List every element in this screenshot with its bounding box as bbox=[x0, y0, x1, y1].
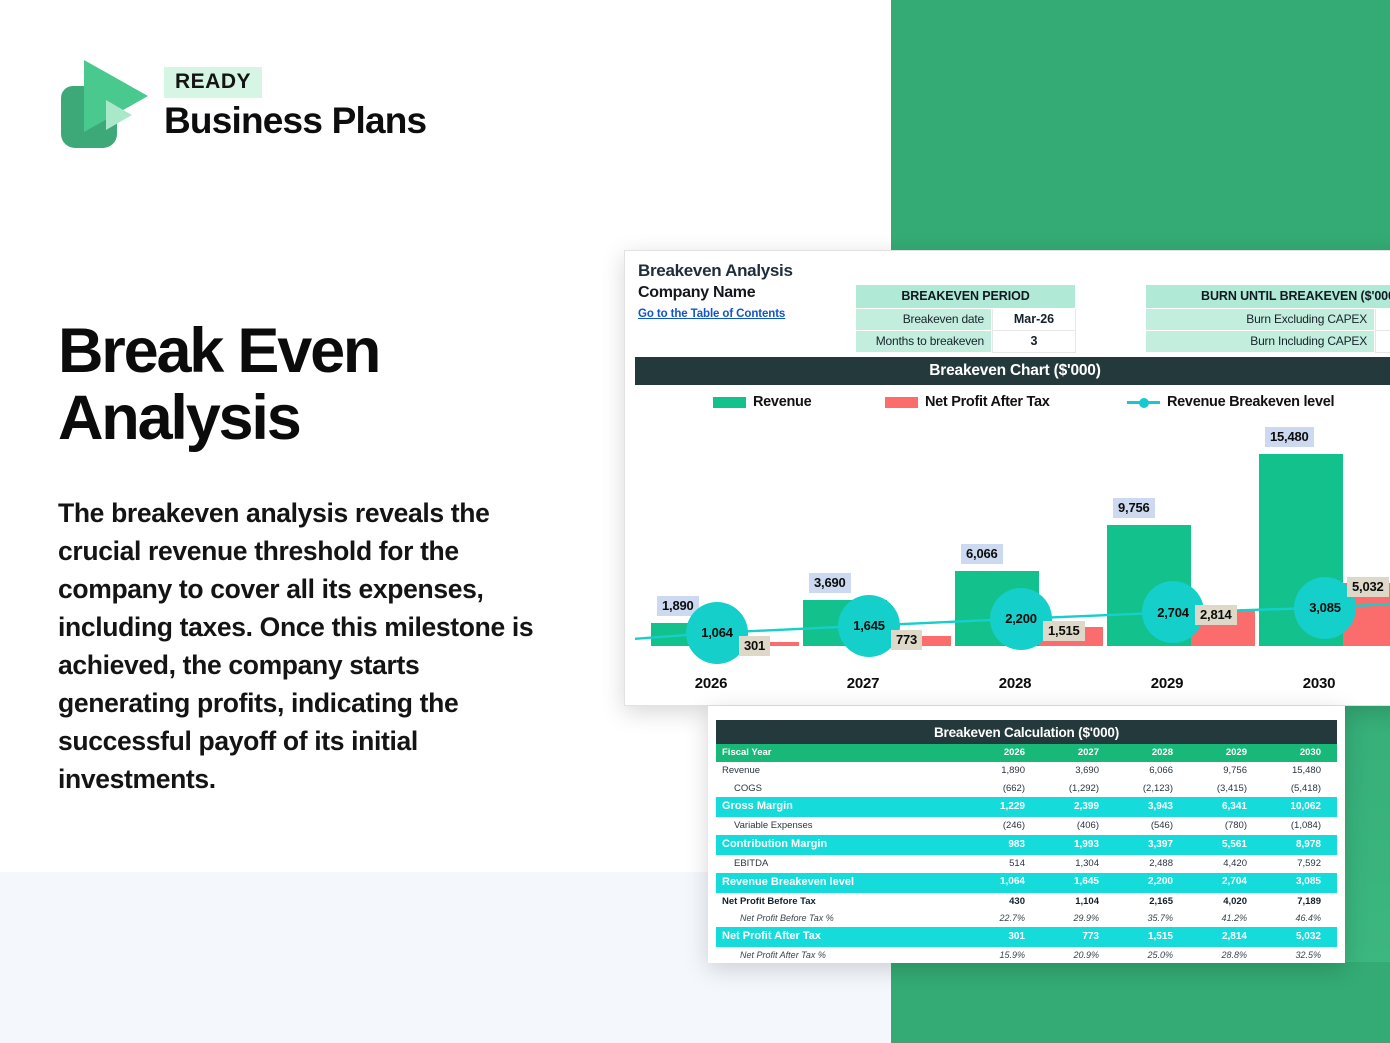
cell-2030: (5,418) bbox=[1263, 780, 1337, 798]
row-label: Net Profit After Tax bbox=[716, 927, 967, 947]
chart-plot-area: 1,8903011,06420263,6907731,64520276,0661… bbox=[635, 423, 1390, 698]
background-green-panel-top bbox=[891, 0, 1390, 256]
cell-2027: 1,645 bbox=[1041, 873, 1115, 893]
background-green-panel-bottom bbox=[891, 962, 1390, 1043]
cell-2026: 1,064 bbox=[967, 873, 1041, 893]
table-row: Net Profit After Tax3017731,5152,8145,03… bbox=[716, 927, 1337, 947]
table-header-row: Fiscal Year20262027202820292030 bbox=[716, 744, 1337, 762]
row-label: Net Profit Before Tax % bbox=[716, 910, 967, 927]
data-label-revenue: 3,690 bbox=[809, 573, 851, 593]
cell-2028: 25.0% bbox=[1115, 947, 1189, 963]
data-label-net-profit-after-tax: 5,032 bbox=[1347, 577, 1389, 597]
table-row: Revenue1,8903,6906,0669,75615,480 bbox=[716, 762, 1337, 780]
column-header-2027: 2027 bbox=[1041, 744, 1115, 762]
kpi-row: Breakeven date Mar-26 bbox=[855, 309, 1076, 331]
breakeven-calculation-card: Breakeven Calculation ($'000) Fiscal Yea… bbox=[708, 706, 1345, 963]
sheet-company-name: Company Name bbox=[638, 283, 847, 304]
row-label: Revenue bbox=[716, 762, 967, 780]
cell-2030: 8,978 bbox=[1263, 835, 1337, 855]
cell-2027: 773 bbox=[1041, 927, 1115, 947]
cell-2029: 2,704 bbox=[1189, 873, 1263, 893]
burn-until-breakeven-panel: BURN UNTIL BREAKEVEN ($'000) Burn Exclud… bbox=[1145, 284, 1390, 353]
row-label: Revenue Breakeven level bbox=[716, 873, 967, 893]
table-row: Contribution Margin9831,9933,3975,5618,9… bbox=[716, 835, 1337, 855]
table-row: Variable Expenses(246)(406)(546)(780)(1,… bbox=[716, 817, 1337, 835]
table-row: Revenue Breakeven level1,0641,6452,2002,… bbox=[716, 873, 1337, 893]
table-row: Gross Margin1,2292,3993,9436,34110,062 bbox=[716, 797, 1337, 817]
cell-2027: (406) bbox=[1041, 817, 1115, 835]
chart-title: Breakeven Chart ($'000) bbox=[635, 357, 1390, 385]
legend-swatch-icon bbox=[885, 397, 918, 408]
cell-2026: 22.7% bbox=[967, 910, 1041, 927]
data-label-net-profit-after-tax: 773 bbox=[891, 630, 922, 650]
cell-2028: (546) bbox=[1115, 817, 1189, 835]
column-header-2026: 2026 bbox=[967, 744, 1041, 762]
legend-item-revenue[interactable]: Revenue bbox=[713, 394, 811, 410]
column-header-2030: 2030 bbox=[1263, 744, 1337, 762]
cell-2028: 2,488 bbox=[1115, 855, 1189, 873]
breakeven-calculation-table: Fiscal Year20262027202820292030 Revenue1… bbox=[716, 744, 1337, 963]
breakeven-period-title: BREAKEVEN PERIOD bbox=[855, 284, 1076, 309]
data-label-revenue: 9,756 bbox=[1113, 498, 1155, 518]
cell-2027: (1,292) bbox=[1041, 780, 1115, 798]
brand-name: Business Plans bbox=[164, 100, 426, 142]
cell-2029: (780) bbox=[1189, 817, 1263, 835]
slide-canvas: READY Business Plans Break Even Analysis… bbox=[0, 0, 1390, 1043]
cell-2030: 10,062 bbox=[1263, 797, 1337, 817]
cell-2029: 41.2% bbox=[1189, 910, 1263, 927]
cell-2026: 514 bbox=[967, 855, 1041, 873]
cell-2030: 7,189 bbox=[1263, 893, 1337, 911]
calc-table-title: Breakeven Calculation ($'000) bbox=[716, 720, 1337, 744]
column-header-2028: 2028 bbox=[1115, 744, 1189, 762]
cell-2026: 1,229 bbox=[967, 797, 1041, 817]
kpi-row: Burn Excluding CAPEX (11.0) bbox=[1145, 309, 1390, 331]
brand-badge: READY bbox=[164, 67, 262, 98]
burn-including-capex-value[interactable]: (48.5) bbox=[1375, 331, 1390, 353]
kpi-row: Burn Including CAPEX (48.5) bbox=[1145, 331, 1390, 353]
cell-2029: 4,020 bbox=[1189, 893, 1263, 911]
cell-2026: (662) bbox=[967, 780, 1041, 798]
row-label: Contribution Margin bbox=[716, 835, 967, 855]
cell-2027: 29.9% bbox=[1041, 910, 1115, 927]
cell-2027: 1,993 bbox=[1041, 835, 1115, 855]
kpi-row: Months to breakeven 3 bbox=[855, 331, 1076, 353]
sheet-title: Breakeven Analysis bbox=[638, 261, 847, 282]
cell-2027: 1,104 bbox=[1041, 893, 1115, 911]
cell-2027: 20.9% bbox=[1041, 947, 1115, 963]
cell-2026: (246) bbox=[967, 817, 1041, 835]
cell-2027: 2,399 bbox=[1041, 797, 1115, 817]
page-title: Break Even Analysis bbox=[58, 318, 558, 452]
burn-excluding-capex-value[interactable]: (11.0) bbox=[1375, 309, 1390, 331]
table-row: EBITDA5141,3042,4884,4207,592 bbox=[716, 855, 1337, 873]
cell-2030: 5,032 bbox=[1263, 927, 1337, 947]
brand-logo: READY Business Plans bbox=[60, 60, 426, 148]
burn-until-breakeven-title: BURN UNTIL BREAKEVEN ($'000) bbox=[1145, 284, 1390, 309]
cell-2028: 2,165 bbox=[1115, 893, 1189, 911]
cell-2026: 983 bbox=[967, 835, 1041, 855]
cell-2029: 2,814 bbox=[1189, 927, 1263, 947]
cell-2028: 2,200 bbox=[1115, 873, 1189, 893]
burn-including-capex-label: Burn Including CAPEX bbox=[1145, 331, 1375, 353]
legend-item-revenue-breakeven-level[interactable]: Revenue Breakeven level bbox=[1127, 394, 1334, 410]
data-label-net-profit-after-tax: 1,515 bbox=[1043, 621, 1085, 641]
cell-2030: 32.5% bbox=[1263, 947, 1337, 963]
legend-label: Net Profit After Tax bbox=[925, 394, 1050, 410]
legend-label: Revenue Breakeven level bbox=[1167, 394, 1334, 410]
chart-legend: RevenueNet Profit After TaxRevenue Break… bbox=[635, 389, 1390, 415]
cell-2026: 430 bbox=[967, 893, 1041, 911]
breakeven-date-label: Breakeven date bbox=[855, 309, 992, 331]
table-row: Net Profit After Tax %15.9%20.9%25.0%28.… bbox=[716, 947, 1337, 963]
page-description: The breakeven analysis reveals the cruci… bbox=[58, 494, 540, 798]
cell-2028: 3,943 bbox=[1115, 797, 1189, 817]
data-label-revenue: 6,066 bbox=[961, 544, 1003, 564]
row-label: Net Profit After Tax % bbox=[716, 947, 967, 963]
breakeven-date-value[interactable]: Mar-26 bbox=[992, 309, 1076, 331]
breakeven-chart-card: Breakeven Analysis Company Name Go to th… bbox=[624, 250, 1390, 706]
cell-2028: 3,397 bbox=[1115, 835, 1189, 855]
table-of-contents-link[interactable]: Go to the Table of Contents bbox=[638, 308, 785, 320]
breakeven-level-line bbox=[635, 423, 1390, 698]
cell-2029: 9,756 bbox=[1189, 762, 1263, 780]
cell-2029: 6,341 bbox=[1189, 797, 1263, 817]
table-row: Net Profit Before Tax4301,1042,1654,0207… bbox=[716, 893, 1337, 911]
legend-label: Revenue bbox=[753, 394, 811, 410]
cell-2029: 4,420 bbox=[1189, 855, 1263, 873]
cell-2030: (1,084) bbox=[1263, 817, 1337, 835]
cell-2030: 7,592 bbox=[1263, 855, 1337, 873]
cell-2030: 46.4% bbox=[1263, 910, 1337, 927]
row-label: Net Profit Before Tax bbox=[716, 893, 967, 911]
cell-2027: 1,304 bbox=[1041, 855, 1115, 873]
cell-2028: (2,123) bbox=[1115, 780, 1189, 798]
legend-item-net-profit-after-tax[interactable]: Net Profit After Tax bbox=[885, 394, 1050, 410]
table-row: COGS(662)(1,292)(2,123)(3,415)(5,418) bbox=[716, 780, 1337, 798]
cell-2027: 3,690 bbox=[1041, 762, 1115, 780]
cell-2026: 15.9% bbox=[967, 947, 1041, 963]
cell-2028: 35.7% bbox=[1115, 910, 1189, 927]
cell-2028: 1,515 bbox=[1115, 927, 1189, 947]
table-row: Net Profit Before Tax %22.7%29.9%35.7%41… bbox=[716, 910, 1337, 927]
row-label: Gross Margin bbox=[716, 797, 967, 817]
cell-2028: 6,066 bbox=[1115, 762, 1189, 780]
data-label-net-profit-after-tax: 2,814 bbox=[1195, 605, 1237, 625]
cell-2030: 3,085 bbox=[1263, 873, 1337, 893]
legend-swatch-icon bbox=[713, 397, 746, 408]
row-label: Variable Expenses bbox=[716, 817, 967, 835]
cell-2026: 1,890 bbox=[967, 762, 1041, 780]
months-to-breakeven-value[interactable]: 3 bbox=[992, 331, 1076, 353]
breakeven-period-panel: BREAKEVEN PERIOD Breakeven date Mar-26 M… bbox=[855, 284, 1076, 353]
legend-line-marker-icon bbox=[1127, 397, 1160, 408]
cell-2026: 301 bbox=[967, 927, 1041, 947]
burn-excluding-capex-label: Burn Excluding CAPEX bbox=[1145, 309, 1375, 331]
row-label: COGS bbox=[716, 780, 967, 798]
cell-2029: 5,561 bbox=[1189, 835, 1263, 855]
column-header-2029: 2029 bbox=[1189, 744, 1263, 762]
cell-2030: 15,480 bbox=[1263, 762, 1337, 780]
play-triangle-logo-icon bbox=[60, 60, 146, 148]
cell-2029: (3,415) bbox=[1189, 780, 1263, 798]
data-label-revenue: 15,480 bbox=[1265, 427, 1314, 447]
cell-2029: 28.8% bbox=[1189, 947, 1263, 963]
data-label-net-profit-after-tax: 301 bbox=[739, 636, 770, 656]
row-label: EBITDA bbox=[716, 855, 967, 873]
months-to-breakeven-label: Months to breakeven bbox=[855, 331, 992, 353]
column-header-fiscal-year: Fiscal Year bbox=[716, 744, 967, 762]
